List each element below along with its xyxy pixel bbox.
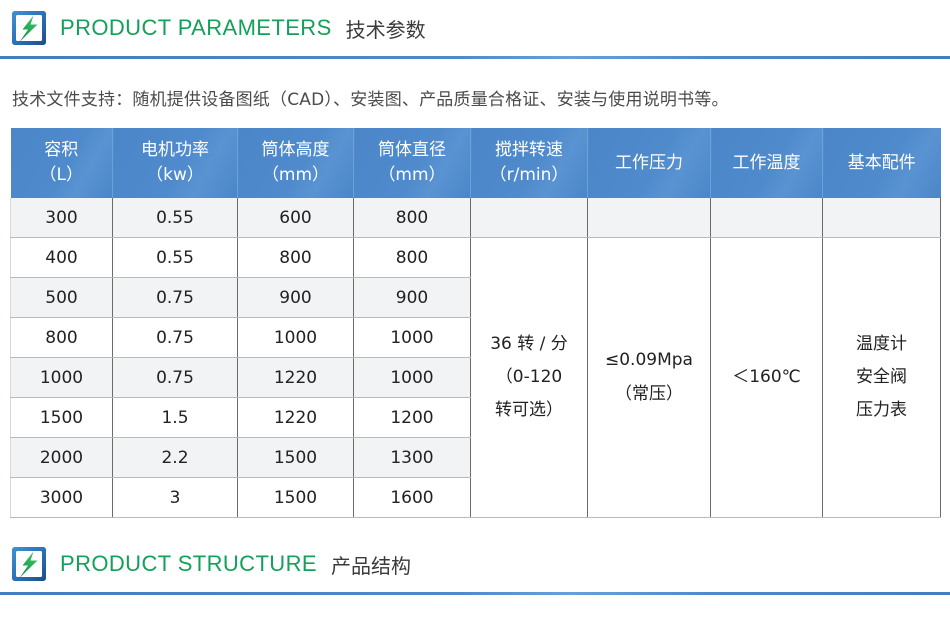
header-name: 基本配件 [848,153,916,173]
column-header-work-temperature: 工作温度 [711,128,823,198]
cell-volume: 1000 [11,358,113,398]
cell-work-temperature-merged: ＜160℃ [711,238,823,518]
header-unit: （kw） [115,163,235,188]
header-unit: （r/min） [473,163,585,188]
cell-work-pressure-empty [588,198,711,238]
stir-speed-line-3: 转可选） [473,394,585,427]
cell-power: 2.2 [113,438,238,478]
header-name: 工作温度 [733,153,801,173]
cell-volume: 400 [11,238,113,278]
column-header-volume: 容积 （L） [11,128,113,198]
work-pressure-line-1: ≤0.09Mpa [590,344,708,377]
cell-basic-parts-merged: 温度计 安全阀 压力表 [823,238,941,518]
cell-work-pressure-merged: ≤0.09Mpa （常压） [588,238,711,518]
product-spec-table: 容积 （L） 电机功率 （kw） 筒体高度 （mm） 筒体直径 （mm） 搅拌转… [10,128,941,518]
cell-volume: 2000 [11,438,113,478]
column-header-stir-speed: 搅拌转速 （r/min） [471,128,588,198]
table-row: 300 0.55 600 800 [11,198,941,238]
section-title-en: PRODUCT STRUCTURE [60,551,317,577]
cell-work-temperature-empty [711,198,823,238]
column-header-body-diameter: 筒体直径 （mm） [354,128,471,198]
column-header-work-pressure: 工作压力 [588,128,711,198]
cell-diameter: 1200 [354,398,471,438]
column-header-basic-parts: 基本配件 [823,128,941,198]
cell-height: 1000 [238,318,354,358]
brand-square-bolt-icon [12,11,46,45]
cell-power: 1.5 [113,398,238,438]
stir-speed-line-2: （0-120 [473,361,585,394]
cell-diameter: 1600 [354,478,471,518]
cell-volume: 800 [11,318,113,358]
cell-height: 1500 [238,478,354,518]
product-parameters-section-header: PRODUCT PARAMETERS 技术参数 [0,0,950,56]
column-header-motor-power: 电机功率 （kw） [113,128,238,198]
cell-stir-speed-merged: 36 转 / 分 （0-120 转可选） [471,238,588,518]
cell-power: 0.55 [113,238,238,278]
stir-speed-line-1: 36 转 / 分 [473,328,585,361]
column-header-body-height: 筒体高度 （mm） [238,128,354,198]
header-unit: （mm） [240,163,351,188]
basic-parts-line-2: 安全阀 [825,361,938,394]
intro-text: 技术文件支持：随机提供设备图纸（CAD）、安装图、产品质量合格证、安装与使用说明… [0,59,950,110]
work-pressure-line-2: （常压） [590,378,708,411]
cell-power: 0.75 [113,278,238,318]
cell-height: 1220 [238,398,354,438]
header-name: 电机功率 [141,140,209,160]
work-temperature-line-1: ＜160℃ [713,361,820,394]
cell-power: 0.75 [113,318,238,358]
header-name: 筒体直径 [378,140,446,160]
cell-diameter: 1300 [354,438,471,478]
cell-height: 600 [238,198,354,238]
header-name: 搅拌转速 [495,140,563,160]
cell-stir-speed-empty [471,198,588,238]
spec-table-container: 容积 （L） 电机功率 （kw） 筒体高度 （mm） 筒体直径 （mm） 搅拌转… [0,110,950,518]
cell-power: 0.55 [113,198,238,238]
header-unit: （mm） [356,163,468,188]
cell-height: 1500 [238,438,354,478]
basic-parts-line-3: 压力表 [825,394,938,427]
header-name: 容积 [44,140,78,160]
table-row: 400 0.55 800 800 36 转 / 分 （0-120 转可选） ≤0… [11,238,941,278]
basic-parts-line-1: 温度计 [825,328,938,361]
cell-height: 1220 [238,358,354,398]
table-header-row: 容积 （L） 电机功率 （kw） 筒体高度 （mm） 筒体直径 （mm） 搅拌转… [11,128,941,198]
product-structure-section-header: PRODUCT STRUCTURE 产品结构 [0,536,950,592]
header-name: 筒体高度 [262,140,330,160]
header-unit: （L） [13,163,111,188]
section-title-en: PRODUCT PARAMETERS [60,15,332,41]
cell-power: 3 [113,478,238,518]
cell-power: 0.75 [113,358,238,398]
cell-height: 800 [238,238,354,278]
cell-diameter: 1000 [354,358,471,398]
cell-volume: 500 [11,278,113,318]
brand-square-bolt-icon [12,547,46,581]
section-spacer [0,518,950,536]
cell-diameter: 900 [354,278,471,318]
cell-height: 900 [238,278,354,318]
cell-diameter: 800 [354,238,471,278]
section-divider-rule [0,592,950,595]
cell-volume: 1500 [11,398,113,438]
cell-diameter: 800 [354,198,471,238]
cell-basic-parts-empty [823,198,941,238]
cell-volume: 300 [11,198,113,238]
header-name: 工作压力 [615,153,683,173]
cell-diameter: 1000 [354,318,471,358]
cell-volume: 3000 [11,478,113,518]
section-title-cn: 产品结构 [331,550,411,579]
section-title-cn: 技术参数 [346,14,426,43]
